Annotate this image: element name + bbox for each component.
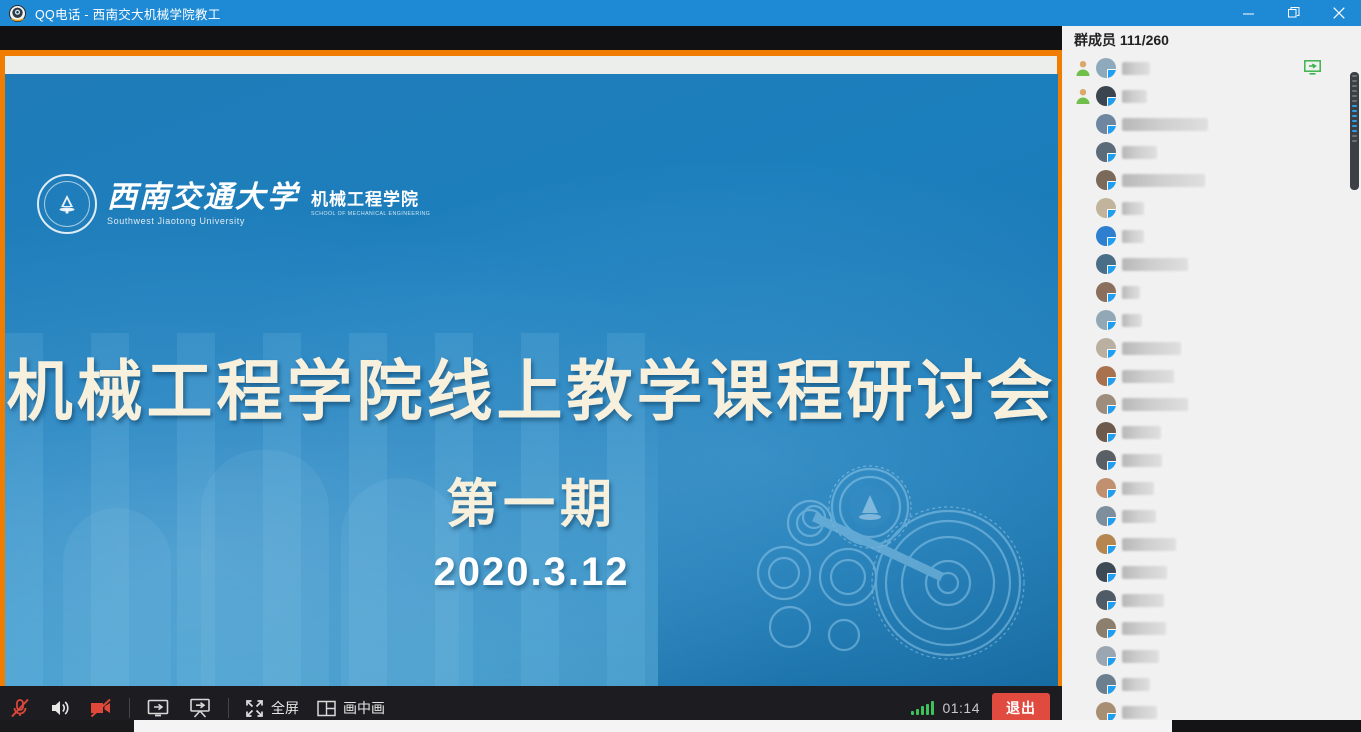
member-avatar bbox=[1096, 506, 1116, 526]
member-status-badge bbox=[1107, 237, 1116, 246]
slide-date: 2020.3.12 bbox=[5, 550, 1058, 595]
member-status-badge bbox=[1107, 461, 1116, 470]
close-button[interactable] bbox=[1316, 0, 1361, 26]
member-avatar bbox=[1096, 170, 1116, 190]
member-status-badge bbox=[1107, 293, 1116, 302]
member-name bbox=[1122, 314, 1142, 327]
member-avatar bbox=[1096, 282, 1116, 302]
pip-icon bbox=[317, 700, 336, 717]
member-name bbox=[1122, 622, 1166, 635]
close-icon bbox=[1333, 7, 1345, 19]
member-list-scrollbar[interactable] bbox=[1350, 72, 1359, 190]
qq-call-icon bbox=[4, 0, 30, 26]
member-status-badge bbox=[1107, 209, 1116, 218]
shared-screen-stage[interactable]: 西南交通大学 Southwest Jiaotong University 机械工… bbox=[0, 26, 1062, 686]
member-list-item[interactable] bbox=[1062, 530, 1361, 558]
member-avatar bbox=[1096, 702, 1116, 720]
qq-call-window: QQ电话 - 西南交大机械学院教工 bbox=[0, 0, 1361, 732]
member-list-item[interactable] bbox=[1062, 614, 1361, 642]
university-name-en: Southwest Jiaotong University bbox=[107, 216, 299, 226]
member-avatar bbox=[1096, 58, 1116, 78]
member-status-badge bbox=[1107, 629, 1116, 638]
background-window-strip bbox=[134, 720, 1172, 732]
member-list-header: 群成员 111/260 bbox=[1062, 26, 1361, 54]
member-avatar bbox=[1096, 478, 1116, 498]
member-list-item[interactable] bbox=[1062, 334, 1361, 362]
share-highlight-top-right bbox=[1016, 50, 1062, 56]
member-name bbox=[1122, 90, 1147, 103]
toolbar-right-group: 01:14 退出 bbox=[911, 693, 1062, 723]
member-list-item[interactable] bbox=[1062, 698, 1361, 720]
school-name-en: SCHOOL OF MECHANICAL ENGINEERING bbox=[311, 211, 430, 217]
member-avatar bbox=[1096, 310, 1116, 330]
member-name bbox=[1122, 398, 1188, 411]
member-status-badge bbox=[1107, 489, 1116, 498]
call-timer: 01:14 bbox=[942, 700, 980, 716]
maximize-button[interactable] bbox=[1271, 0, 1316, 26]
member-status-badge bbox=[1107, 517, 1116, 526]
desktop-background-left bbox=[0, 720, 134, 732]
member-list-item[interactable] bbox=[1062, 138, 1361, 166]
member-status-badge bbox=[1107, 601, 1116, 610]
member-list-item[interactable] bbox=[1062, 502, 1361, 530]
member-name bbox=[1122, 370, 1174, 383]
fullscreen-label: 全屏 bbox=[271, 698, 299, 718]
member-name bbox=[1122, 510, 1156, 523]
member-list-panel[interactable]: 群成员 111/260 bbox=[1062, 26, 1361, 720]
member-status-badge bbox=[1107, 433, 1116, 442]
member-list-item[interactable] bbox=[1062, 642, 1361, 670]
shared-window-chrome-top bbox=[4, 56, 1058, 76]
toolbar-separator-2 bbox=[228, 698, 229, 718]
member-list-item[interactable] bbox=[1062, 194, 1361, 222]
member-list-item[interactable] bbox=[1062, 558, 1361, 586]
member-name bbox=[1122, 146, 1157, 159]
member-list-item[interactable] bbox=[1062, 54, 1361, 82]
member-avatar bbox=[1096, 450, 1116, 470]
member-status-badge bbox=[1107, 573, 1116, 582]
member-screen-share-icon[interactable] bbox=[1304, 60, 1321, 80]
member-avatar bbox=[1096, 590, 1116, 610]
member-name bbox=[1122, 538, 1176, 551]
university-seal-icon bbox=[37, 174, 97, 234]
member-avatar bbox=[1096, 394, 1116, 414]
member-avatar bbox=[1096, 562, 1116, 582]
member-avatar bbox=[1096, 198, 1116, 218]
member-list-item[interactable] bbox=[1062, 670, 1361, 698]
member-name bbox=[1122, 566, 1167, 579]
restore-icon bbox=[1288, 7, 1300, 19]
member-status-badge bbox=[1107, 545, 1116, 554]
member-rows-container[interactable] bbox=[1062, 54, 1361, 720]
member-avatar bbox=[1096, 422, 1116, 442]
member-status-badge bbox=[1107, 685, 1116, 694]
pip-label: 画中画 bbox=[343, 698, 385, 718]
member-name bbox=[1122, 706, 1157, 719]
member-status-badge bbox=[1107, 153, 1116, 162]
camera-muted-icon bbox=[89, 697, 113, 719]
member-avatar bbox=[1096, 534, 1116, 554]
member-name bbox=[1122, 258, 1188, 271]
member-list-item[interactable] bbox=[1062, 110, 1361, 138]
member-list-item[interactable] bbox=[1062, 222, 1361, 250]
slide-subtitle: 第一期 bbox=[5, 462, 1058, 537]
member-name bbox=[1122, 650, 1159, 663]
member-name bbox=[1122, 118, 1208, 131]
host-person-icon bbox=[1074, 59, 1092, 77]
university-name-cn: 西南交通大学 bbox=[107, 183, 299, 213]
member-list-item[interactable] bbox=[1062, 82, 1361, 110]
member-avatar bbox=[1096, 86, 1116, 106]
screen-share-icon bbox=[146, 697, 170, 719]
member-name bbox=[1122, 62, 1150, 75]
member-name bbox=[1122, 426, 1161, 439]
member-status-badge bbox=[1107, 713, 1116, 720]
presentation-slide: 西南交通大学 Southwest Jiaotong University 机械工… bbox=[5, 74, 1058, 686]
toolbar-separator-1 bbox=[129, 698, 130, 718]
member-name bbox=[1122, 174, 1205, 187]
member-list-item[interactable] bbox=[1062, 446, 1361, 474]
member-avatar bbox=[1096, 338, 1116, 358]
minimize-button[interactable] bbox=[1226, 0, 1271, 26]
member-status-badge bbox=[1107, 125, 1116, 134]
member-list-item[interactable] bbox=[1062, 418, 1361, 446]
member-status-badge bbox=[1107, 97, 1116, 106]
member-status-badge bbox=[1107, 181, 1116, 190]
member-name bbox=[1122, 230, 1144, 243]
member-list-item[interactable] bbox=[1062, 250, 1361, 278]
member-name bbox=[1122, 454, 1162, 467]
member-list-item[interactable] bbox=[1062, 390, 1361, 418]
member-list-item[interactable] bbox=[1062, 474, 1361, 502]
member-avatar bbox=[1096, 674, 1116, 694]
member-list-item[interactable] bbox=[1062, 586, 1361, 614]
exit-button[interactable]: 退出 bbox=[992, 693, 1050, 723]
member-avatar bbox=[1096, 646, 1116, 666]
window-title: QQ电话 - 西南交大机械学院教工 bbox=[35, 4, 221, 23]
member-list-item[interactable] bbox=[1062, 278, 1361, 306]
share-highlight-top bbox=[0, 50, 1016, 56]
school-name-block: 机械工程学院 SCHOOL OF MECHANICAL ENGINEERING bbox=[311, 191, 437, 217]
member-name bbox=[1122, 286, 1140, 299]
member-name bbox=[1122, 678, 1150, 691]
member-status-badge bbox=[1107, 405, 1116, 414]
member-avatar bbox=[1096, 366, 1116, 386]
university-logo: 西南交通大学 Southwest Jiaotong University 机械工… bbox=[37, 174, 437, 234]
member-status-badge bbox=[1107, 349, 1116, 358]
member-name bbox=[1122, 482, 1154, 495]
speaker-icon bbox=[49, 697, 71, 719]
member-list-item[interactable] bbox=[1062, 362, 1361, 390]
member-status-badge bbox=[1107, 265, 1116, 274]
member-status-badge bbox=[1107, 69, 1116, 78]
fullscreen-icon bbox=[245, 699, 264, 718]
member-status-badge bbox=[1107, 321, 1116, 330]
desktop-background-right bbox=[1172, 720, 1361, 732]
member-name bbox=[1122, 342, 1181, 355]
host-person-icon bbox=[1074, 87, 1092, 105]
title-bar: QQ电话 - 西南交大机械学院教工 bbox=[0, 0, 1361, 26]
slide-title: 机械工程学院线上教学课程研讨会 bbox=[5, 338, 1058, 434]
member-avatar bbox=[1096, 226, 1116, 246]
member-avatar bbox=[1096, 142, 1116, 162]
university-name-block: 西南交通大学 Southwest Jiaotong University bbox=[107, 183, 299, 226]
member-list-item[interactable] bbox=[1062, 306, 1361, 334]
school-name-cn: 机械工程学院 bbox=[311, 191, 437, 208]
member-status-badge bbox=[1107, 657, 1116, 666]
mic-muted-icon bbox=[9, 697, 31, 719]
member-name bbox=[1122, 594, 1164, 607]
signal-bars-icon bbox=[911, 701, 934, 715]
member-avatar bbox=[1096, 618, 1116, 638]
member-status-badge bbox=[1107, 377, 1116, 386]
member-list-item[interactable] bbox=[1062, 166, 1361, 194]
member-avatar bbox=[1096, 254, 1116, 274]
member-name bbox=[1122, 202, 1144, 215]
whiteboard-icon bbox=[188, 697, 212, 719]
member-avatar bbox=[1096, 114, 1116, 134]
minimize-icon bbox=[1243, 8, 1254, 19]
